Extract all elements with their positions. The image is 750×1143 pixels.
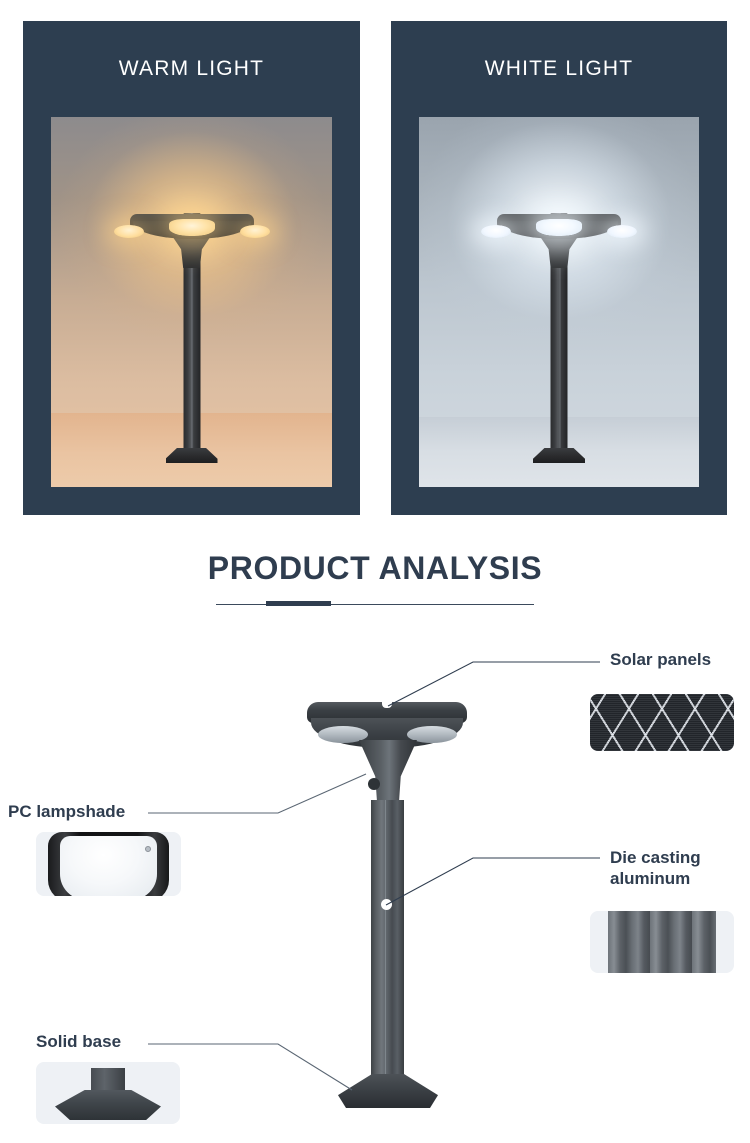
title-divider-accent [266, 601, 331, 606]
solar-cell-texture [590, 694, 734, 751]
light-panel-warm: WARM LIGHT [23, 21, 360, 515]
lamp-illustration [92, 117, 292, 487]
lamp-illustration [459, 117, 659, 487]
callout-label-die-casting-aluminum: Die casting aluminum [610, 848, 701, 889]
diagram-callout-marker-dot [381, 899, 392, 910]
lamp-lens-left [481, 225, 511, 238]
diagram-solid-base [338, 1074, 438, 1108]
thumbnail-pc-lampshade [36, 832, 181, 896]
product-photo-white-light [419, 117, 699, 487]
product-diagram-lamp [300, 700, 475, 1120]
section-title: PRODUCT ANALYSIS [0, 550, 750, 587]
lamp-lens-center [169, 219, 215, 236]
lampshade-diffuser [60, 836, 157, 896]
title-divider-line [216, 604, 534, 605]
light-panel-white: WHITE LIGHT [391, 21, 727, 515]
lamp-base [533, 448, 585, 463]
callout-label-pc-lampshade: PC lampshade [8, 802, 125, 823]
callout-label-solid-base: Solid base [36, 1032, 121, 1053]
base-foot-plate [55, 1090, 161, 1120]
product-analysis-page: WARM LIGHT WHITE LIGHT [0, 0, 750, 1143]
diagram-sensor-icon [368, 778, 380, 790]
thumbnail-solid-base [36, 1062, 180, 1124]
lamp-base [166, 448, 218, 463]
lampshade-screw [145, 846, 151, 852]
diagram-aluminum-pole [371, 800, 404, 1092]
panel-title-warm: WARM LIGHT [23, 21, 360, 117]
lamp-lens-right [607, 225, 637, 238]
lamp-lens-center [536, 219, 582, 236]
product-photo-warm-light [51, 117, 332, 487]
lamp-lens-right [240, 225, 270, 238]
thumbnail-die-casting-aluminum [590, 911, 734, 973]
thumbnail-solar-panels [590, 694, 734, 751]
lamp-lens-left [114, 225, 144, 238]
callout-label-solar-panels: Solar panels [610, 650, 711, 671]
panel-title-white: WHITE LIGHT [391, 21, 727, 117]
aluminum-extrusion-surface [608, 911, 716, 973]
